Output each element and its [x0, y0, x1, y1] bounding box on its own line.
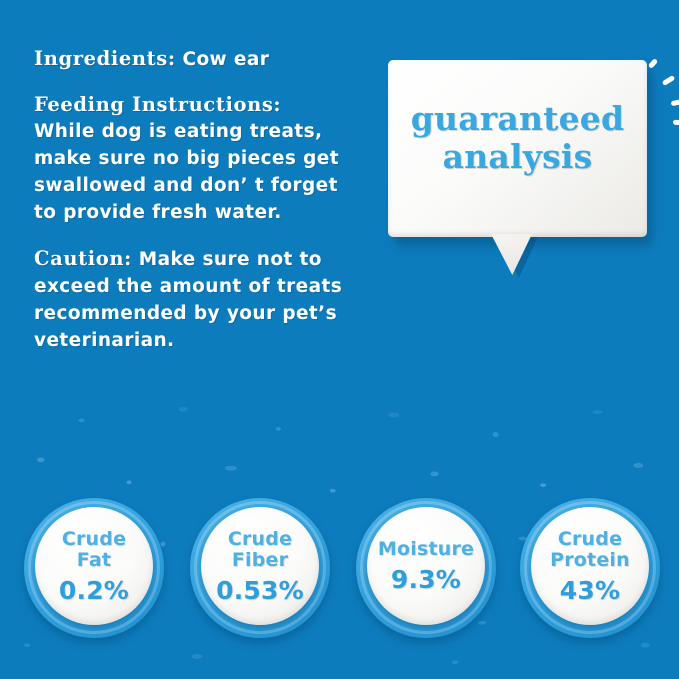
- badge-label: Crude Fiber: [228, 529, 292, 571]
- feeding-instructions-heading: Feeding Instructions:: [34, 93, 281, 116]
- nutrient-badge-row: Crude Fat 0.2% Crude Fiber 0.53% Moistur…: [0, 490, 679, 655]
- badge-value: 0.53%: [216, 578, 304, 604]
- feeding-instructions-text: While dog is eating treats, make sure no…: [34, 118, 364, 226]
- badge-face: Crude Fiber 0.53%: [201, 507, 319, 625]
- sparkle-dash-3: [671, 99, 679, 107]
- caution-block: Caution: Make sure not to exceed the amo…: [34, 246, 364, 354]
- badge-value: 43%: [560, 578, 620, 604]
- nutrient-badge-crude-fiber: Crude Fiber 0.53%: [190, 498, 330, 638]
- badge-label: Crude Fat: [62, 529, 126, 571]
- sparkle-dash-4: [673, 120, 679, 126]
- product-info-panel: Ingredients: Cow ear Feeding Instruction…: [0, 0, 679, 679]
- nutrient-badge-moisture: Moisture 9.3%: [356, 498, 496, 638]
- badge-value: 0.2%: [59, 578, 129, 604]
- sparkle-icon: [640, 56, 679, 126]
- sparkle-dash-1: [648, 58, 658, 69]
- badge-face: Crude Protein 43%: [531, 507, 649, 625]
- caution-heading: Caution:: [34, 247, 132, 270]
- feeding-instructions-block: Feeding Instructions: While dog is eatin…: [34, 93, 364, 226]
- sparkle-dash-2: [662, 75, 676, 86]
- badge-value: 9.3%: [391, 567, 461, 593]
- badge-face: Crude Fat 0.2%: [35, 507, 153, 625]
- info-text-column: Ingredients: Cow ear Feeding Instruction…: [34, 46, 364, 374]
- nutrient-badge-crude-protein: Crude Protein 43%: [520, 498, 660, 638]
- ingredients-heading: Ingredients:: [34, 47, 176, 70]
- badge-label: Moisture: [378, 539, 474, 560]
- ingredients-block: Ingredients: Cow ear: [34, 46, 364, 73]
- guaranteed-analysis-callout: guaranteed analysis: [388, 60, 650, 275]
- nutrient-badge-crude-fat: Crude Fat 0.2%: [24, 498, 164, 638]
- badge-label: Crude Protein: [550, 529, 630, 571]
- callout-title: guaranteed analysis: [388, 100, 647, 176]
- ingredients-text: Cow ear: [176, 49, 270, 70]
- badge-face: Moisture 9.3%: [367, 507, 485, 625]
- grunge-fade-overlay: [0, 380, 679, 450]
